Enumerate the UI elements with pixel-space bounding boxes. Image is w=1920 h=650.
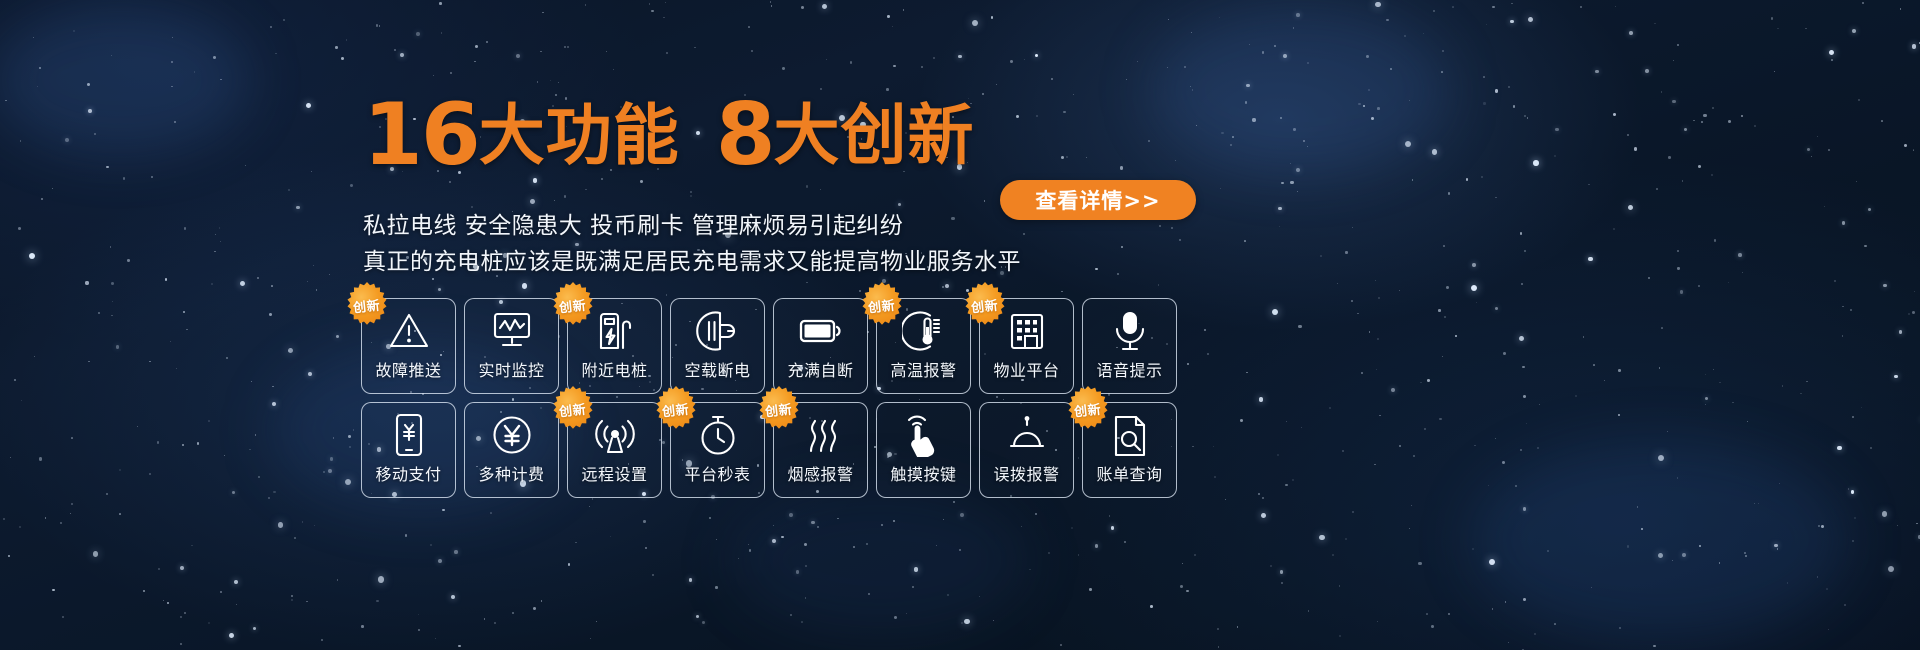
feature-card-label: 烟感报警 (787, 461, 853, 485)
headline-number-innovations: 8 (716, 85, 774, 185)
headline-number-functions: 16 (363, 85, 479, 185)
feature-card-空载断电[interactable]: 空载断电 (670, 298, 765, 394)
feature-card-附近电桩[interactable]: 创新附近电桩 (567, 298, 662, 394)
feature-card-label: 高温报警 (890, 357, 956, 381)
innovation-badge: 创新 (344, 282, 390, 328)
feature-card-触摸按键[interactable]: 触摸按键 (876, 402, 971, 498)
microphone-icon (1107, 308, 1153, 354)
stopwatch-icon (695, 412, 741, 458)
feature-card-label: 语音提示 (1096, 357, 1162, 381)
feature-card-移动支付[interactable]: 移动支付 (361, 402, 456, 498)
innovation-badge-label: 创新 (1074, 398, 1103, 420)
battery-full-icon (798, 308, 844, 354)
feature-card-label: 触摸按键 (890, 461, 956, 485)
feature-card-烟感报警[interactable]: 创新烟感报警 (773, 402, 868, 498)
innovation-badge: 创新 (859, 282, 905, 328)
feature-row: 移动支付多种计费创新远程设置创新平台秒表创新烟感报警触摸按键误拨报警创新账单查询 (361, 402, 1177, 498)
touch-hand-icon (901, 412, 947, 458)
subtitle-block: 私拉电线 安全隐患大 投币刷卡 管理麻烦易引起纠纷 真正的充电桩应该是既满足居民… (363, 208, 1021, 280)
feature-card-label: 多种计费 (478, 461, 544, 485)
feature-card-label: 误拨报警 (993, 461, 1059, 485)
feature-card-label: 故障推送 (375, 357, 441, 381)
feature-card-label: 远程设置 (581, 461, 647, 485)
feature-card-label: 平台秒表 (684, 461, 750, 485)
feature-card-语音提示[interactable]: 语音提示 (1082, 298, 1177, 394)
innovation-badge: 创新 (756, 386, 802, 432)
feature-card-多种计费[interactable]: 多种计费 (464, 402, 559, 498)
page-title: 16大功能8大创新 (363, 92, 975, 178)
innovation-badge-label: 创新 (559, 398, 588, 420)
feature-card-物业平台[interactable]: 创新物业平台 (979, 298, 1074, 394)
alarm-bell-icon (1004, 412, 1050, 458)
feature-card-label: 附近电桩 (581, 357, 647, 381)
feature-card-label: 账单查询 (1096, 461, 1162, 485)
innovation-badge-label: 创新 (662, 398, 691, 420)
feature-row: 创新故障推送实时监控创新附近电桩空载断电充满自断创新高温报警创新物业平台语音提示 (361, 298, 1177, 394)
feature-card-label: 物业平台 (993, 357, 1059, 381)
feature-card-故障推送[interactable]: 创新故障推送 (361, 298, 456, 394)
headline-label-innovations: 大创新 (774, 97, 975, 174)
innovation-badge-label: 创新 (971, 294, 1000, 316)
charging-pile-icon (592, 308, 638, 354)
headline-label-functions: 大功能 (479, 97, 680, 174)
feature-card-平台秒表[interactable]: 创新平台秒表 (670, 402, 765, 498)
feature-grid: 创新故障推送实时监控创新附近电桩空载断电充满自断创新高温报警创新物业平台语音提示… (361, 298, 1177, 498)
feature-card-label: 实时监控 (478, 357, 544, 381)
promo-banner: 16大功能8大创新 查看详情>> 私拉电线 安全隐患大 投币刷卡 管理麻烦易引起… (0, 0, 1920, 650)
subtitle-line-2: 真正的充电桩应该是既满足居民充电需求又能提高物业服务水平 (363, 244, 1021, 280)
power-plug-icon (695, 308, 741, 354)
innovation-badge: 创新 (653, 386, 699, 432)
view-details-button[interactable]: 查看详情>> (1000, 180, 1196, 220)
warning-triangle-icon (386, 308, 432, 354)
feature-card-label: 空载断电 (684, 357, 750, 381)
building-icon (1004, 308, 1050, 354)
feature-card-高温报警[interactable]: 创新高温报警 (876, 298, 971, 394)
yuan-coin-icon (489, 412, 535, 458)
subtitle-line-1: 私拉电线 安全隐患大 投币刷卡 管理麻烦易引起纠纷 (363, 208, 1021, 244)
innovation-badge: 创新 (1065, 386, 1111, 432)
feature-card-充满自断[interactable]: 充满自断 (773, 298, 868, 394)
innovation-badge: 创新 (550, 282, 596, 328)
innovation-badge-label: 创新 (765, 398, 794, 420)
feature-card-远程设置[interactable]: 创新远程设置 (567, 402, 662, 498)
innovation-badge: 创新 (962, 282, 1008, 328)
feature-card-label: 充满自断 (787, 357, 853, 381)
innovation-badge: 创新 (550, 386, 596, 432)
feature-card-label: 移动支付 (375, 461, 441, 485)
mobile-payment-icon (386, 412, 432, 458)
bill-search-icon (1107, 412, 1153, 458)
feature-card-账单查询[interactable]: 创新账单查询 (1082, 402, 1177, 498)
monitor-waveform-icon (489, 308, 535, 354)
feature-card-实时监控[interactable]: 实时监控 (464, 298, 559, 394)
innovation-badge-label: 创新 (868, 294, 897, 316)
innovation-badge-label: 创新 (559, 294, 588, 316)
feature-card-误拨报警[interactable]: 误拨报警 (979, 402, 1074, 498)
thermometer-icon (901, 308, 947, 354)
innovation-badge-label: 创新 (353, 294, 382, 316)
smoke-sensor-icon (798, 412, 844, 458)
wireless-signal-icon (592, 412, 638, 458)
